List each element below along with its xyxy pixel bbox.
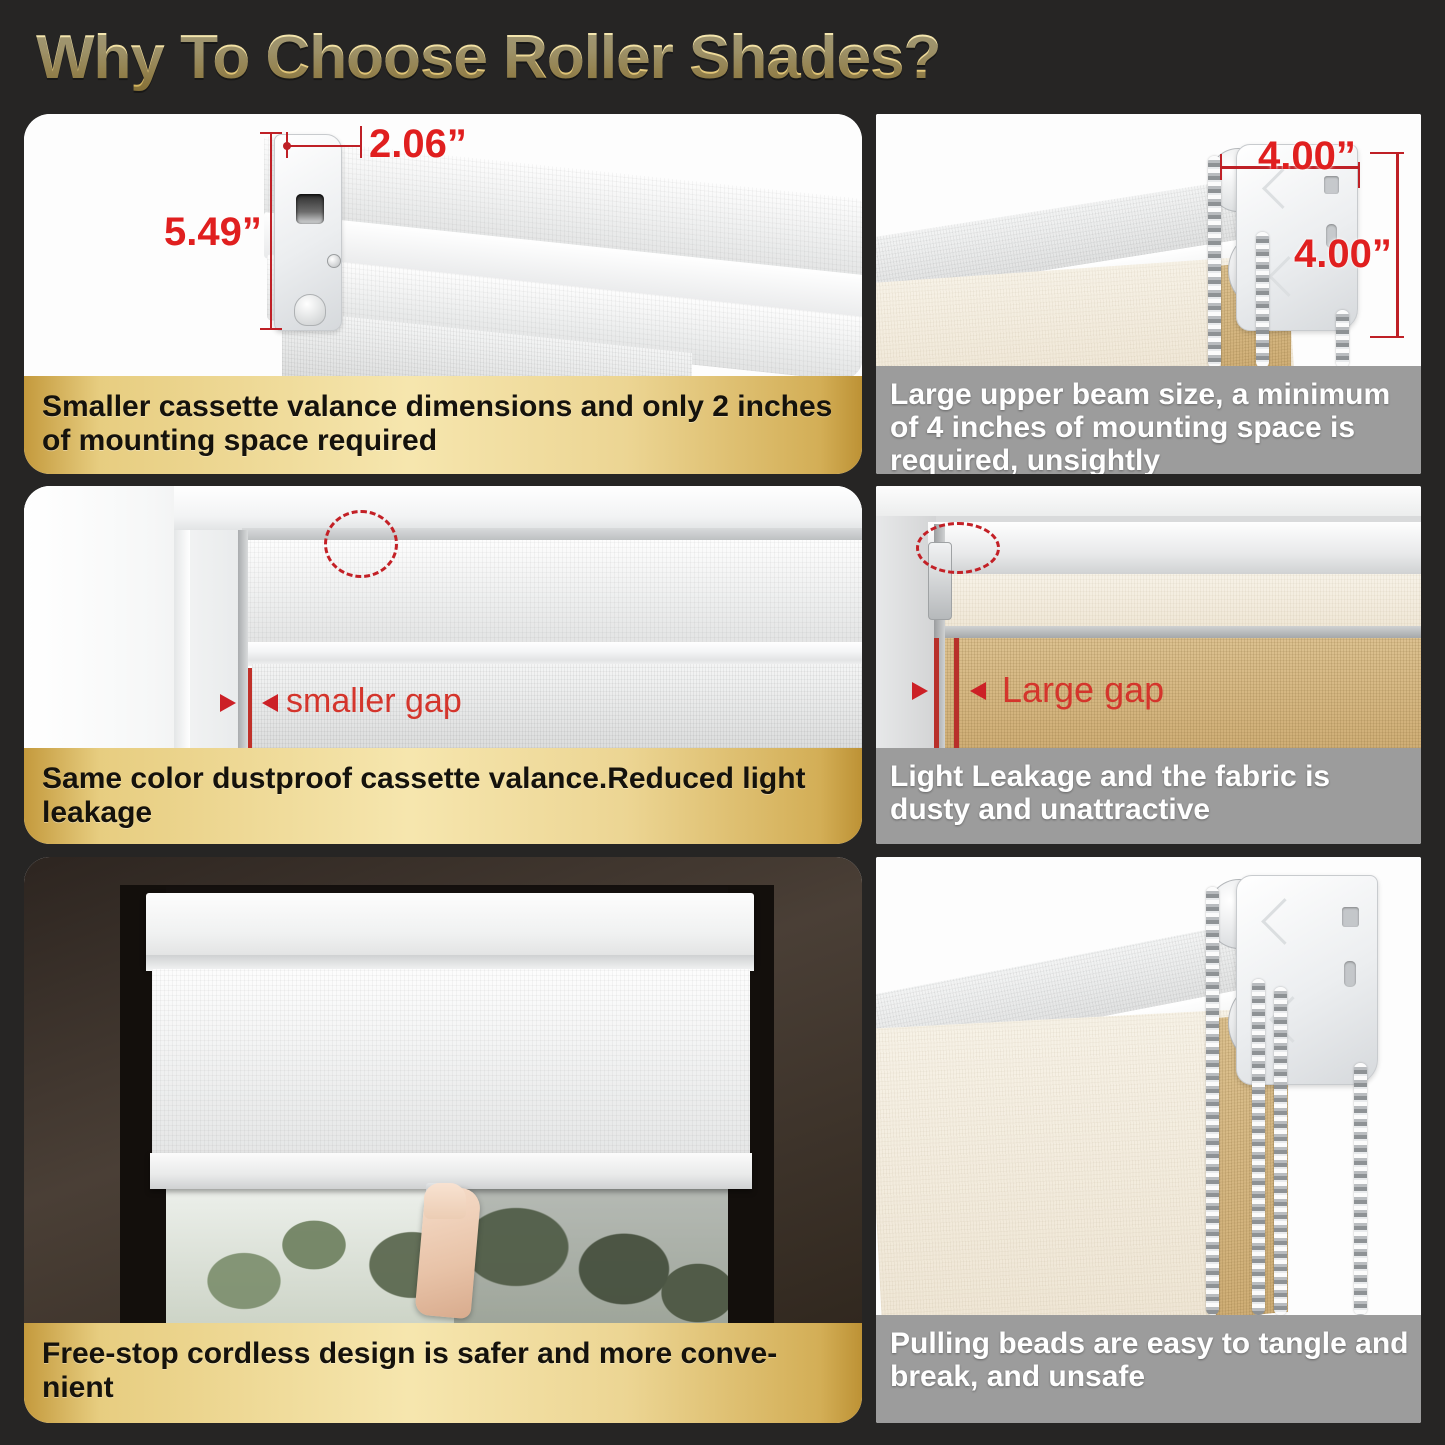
dimension-label-beam-width: 4.00” — [1258, 134, 1356, 179]
panel-3-photo: smaller gap — [24, 486, 862, 748]
panel-3-caption: Same color dustproof cassette valance.Re… — [24, 748, 862, 844]
shade-fabric — [152, 969, 750, 1181]
panel-6: Pulling beads are easy to tangle and bre… — [876, 857, 1421, 1423]
panel-2-caption: Large upper beam size, a minimum of 4 in… — [876, 366, 1421, 474]
bead-chain-1 — [1208, 156, 1221, 366]
gap-arrow-left — [912, 682, 928, 700]
dimension-label-beam-height: 4.00” — [1294, 232, 1392, 277]
panel-4-photo: Large gap — [876, 486, 1421, 748]
infographic-root: Why To Choose Roller Shades? 2.06” — [0, 0, 1445, 1445]
panel-1-photo: 2.06” 5.49” — [24, 114, 862, 376]
bead-chain-3 — [1336, 310, 1349, 366]
dimension-label-height: 5.49” — [164, 210, 262, 255]
bead-chain-1 — [1206, 887, 1219, 1315]
gap-label: Large gap — [1002, 669, 1164, 711]
bead-chain-4 — [1354, 1063, 1367, 1315]
panel-2-photo: 4.00” 4.00” — [876, 114, 1421, 366]
highlight-circle — [916, 522, 1000, 574]
highlight-circle — [324, 510, 398, 578]
panel-1: 2.06” 5.49” Smaller cassette valance dim… — [24, 114, 862, 474]
panel-5-caption: Free-stop cordless design is safer and m… — [24, 1323, 862, 1423]
gap-arrow-left — [220, 694, 236, 712]
panel-5: Free-stop cordless design is safer and m… — [24, 857, 862, 1423]
bead-chain-2 — [1252, 979, 1265, 1315]
bracket-screw — [327, 254, 341, 268]
panel-4: Large gap Light Leakage and the fabric i… — [876, 486, 1421, 844]
bracket-slot — [296, 194, 324, 224]
panel-4-caption: Light Leakage and the fabric is dusty an… — [876, 748, 1421, 844]
panel-2: 4.00” 4.00” Large upper beam size, a min… — [876, 114, 1421, 474]
bracket-keyhole-upper — [1342, 907, 1359, 927]
gap-arrow-right — [970, 682, 986, 700]
bracket-knob — [294, 294, 326, 326]
panel-6-photo — [876, 857, 1421, 1315]
gap-arrow-right — [262, 694, 278, 712]
panel-5-photo — [24, 857, 862, 1323]
hand-fingers — [424, 1183, 466, 1219]
page-title: Why To Choose Roller Shades? — [36, 22, 1036, 94]
gap-label: smaller gap — [286, 682, 462, 721]
bead-chain-3 — [1274, 987, 1287, 1315]
panel-1-caption: Smaller cassette valance dimensions and … — [24, 376, 862, 474]
dimension-label-width: 2.06” — [369, 122, 467, 167]
bead-chain-2 — [1256, 232, 1269, 366]
bracket-keyhole-lower — [1344, 961, 1356, 987]
panel-6-caption: Pulling beads are easy to tangle and bre… — [876, 1315, 1421, 1423]
panel-3: smaller gap Same color dustproof cassett… — [24, 486, 862, 844]
